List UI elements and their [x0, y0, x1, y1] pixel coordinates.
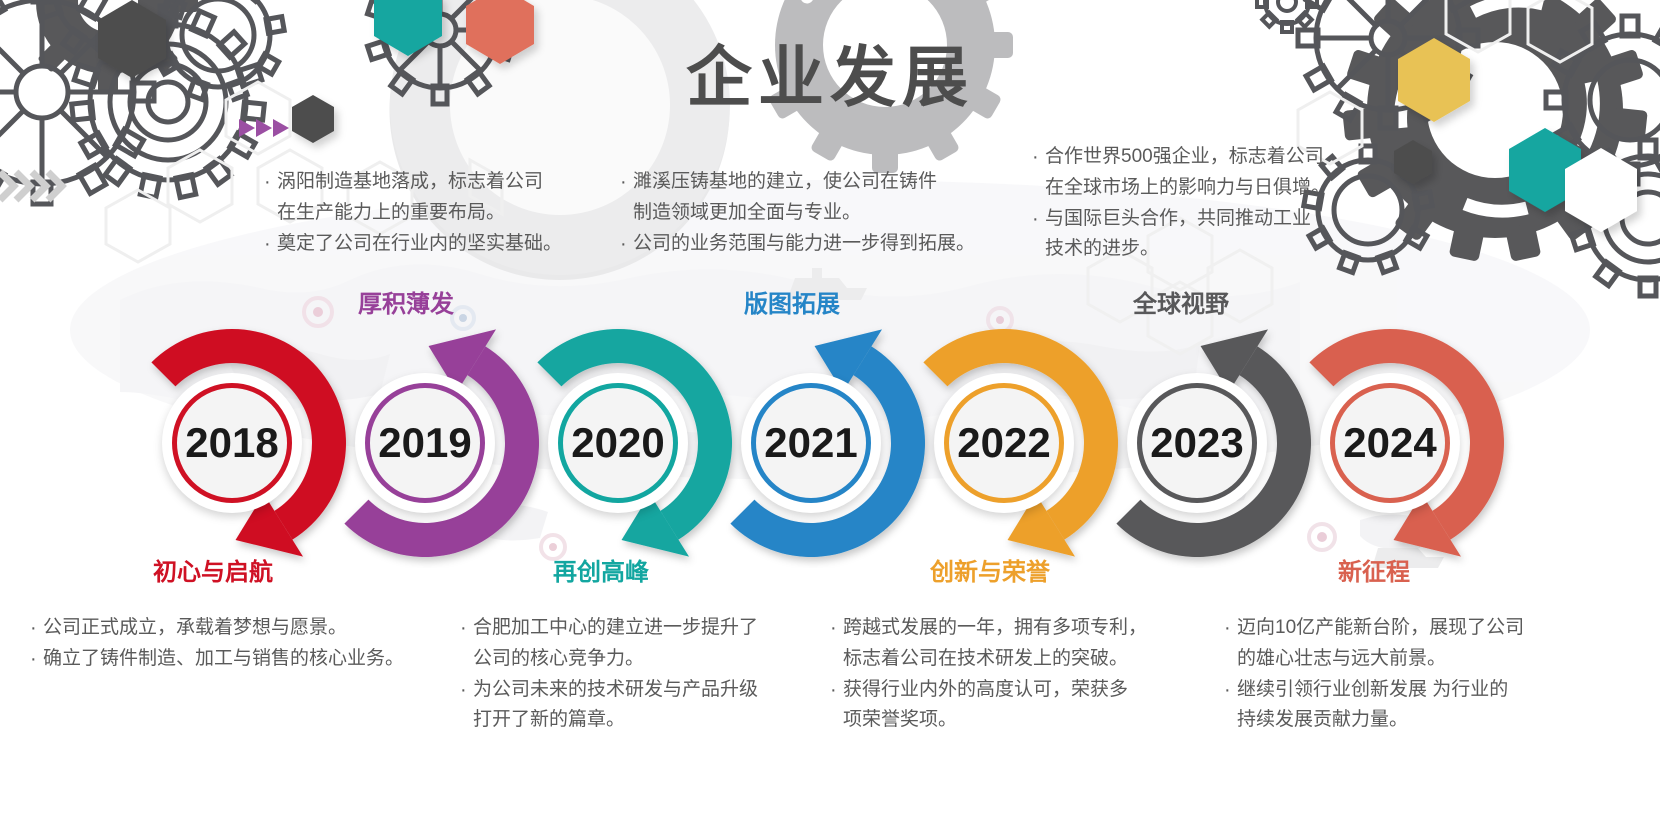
bullet: 涡阳制造基地落成，标志着公司 在生产能力上的重要布局。: [262, 167, 562, 229]
milestone-text-2022: 跨越式发展的一年，拥有多项专利， 标志着公司在技术研发上的突破。 获得行业内外的…: [828, 613, 1178, 736]
year-disc-2022[interactable]: 2022: [934, 373, 1074, 513]
milestone-label-2019: 厚积薄发: [358, 284, 454, 319]
milestone-text-2021: 濉溪压铸基地的建立，使公司在铸件 制造领域更加全面与专业。 公司的业务范围与能力…: [618, 167, 988, 259]
bullet: 公司的业务范围与能力进一步得到拓展。: [618, 229, 988, 260]
slide-canvas: 企业发展 涡阳制造基地落成，标志着公司 在生产能力上的重要布局。 奠定了公司在行…: [0, 0, 1660, 829]
bullet: 濉溪压铸基地的建立，使公司在铸件 制造领域更加全面与专业。: [618, 167, 988, 229]
chevron-right-icon-group: [239, 119, 289, 137]
bullet: 合肥加工中心的建立进一步提升了 公司的核心竞争力。: [458, 613, 788, 675]
year-disc-2024[interactable]: 2024: [1320, 373, 1460, 513]
year-disc-2019[interactable]: 2019: [355, 373, 495, 513]
bullet: 跨越式发展的一年，拥有多项专利， 标志着公司在技术研发上的突破。: [828, 613, 1178, 675]
year-label: 2018: [185, 422, 278, 464]
bullet: 奠定了公司在行业内的坚实基础。: [262, 229, 562, 260]
milestone-label-2020: 再创高峰: [553, 552, 649, 587]
bullet: 为公司未来的技术研发与产品升级 打开了新的篇章。: [458, 675, 788, 737]
milestone-text-2018: 公司正式成立，承载着梦想与愿景。 确立了铸件制造、加工与销售的核心业务。: [28, 613, 438, 675]
milestone-label-2018: 初心与启航: [153, 552, 273, 587]
milestone-text-2019: 涡阳制造基地落成，标志着公司 在生产能力上的重要布局。 奠定了公司在行业内的坚实…: [262, 167, 562, 259]
year-label: 2024: [1343, 422, 1436, 464]
year-label: 2022: [957, 422, 1050, 464]
year-disc-2021[interactable]: 2021: [741, 373, 881, 513]
year-disc-2018[interactable]: 2018: [162, 373, 302, 513]
milestone-label-2024: 新征程: [1338, 552, 1410, 587]
year-ring-2021: 2021: [751, 383, 871, 503]
milestone-label-2022: 创新与荣誉: [930, 552, 1050, 587]
timeline-node-2018[interactable]: 2018: [107, 318, 357, 568]
chevron-right-icon-group-gray: [0, 172, 62, 200]
year-label: 2020: [571, 422, 664, 464]
year-ring-2024: 2024: [1330, 383, 1450, 503]
year-label: 2023: [1150, 422, 1243, 464]
milestone-text-2023: 合作世界500强企业，标志着公司 在全球市场上的影响力与日俱增。 与国际巨头合作…: [1030, 142, 1350, 265]
milestone-label-2023: 全球视野: [1133, 284, 1229, 319]
page-title: 企业发展: [0, 24, 1660, 120]
bullet: 获得行业内外的高度认可，荣获多 项荣誉奖项。: [828, 675, 1178, 737]
milestone-text-2024: 迈向10亿产能新台阶，展现了公司 的雄心壮志与远大前景。 继续引领行业创新发展 …: [1222, 613, 1572, 736]
bullet: 迈向10亿产能新台阶，展现了公司 的雄心壮志与远大前景。: [1222, 613, 1572, 675]
year-disc-2020[interactable]: 2020: [548, 373, 688, 513]
timeline: 2018201920202021202220232024: [0, 318, 1660, 568]
bullet: 确立了铸件制造、加工与销售的核心业务。: [28, 644, 438, 675]
bullet: 继续引领行业创新发展 为行业的 持续发展贡献力量。: [1222, 675, 1572, 737]
year-ring-2019: 2019: [365, 383, 485, 503]
bullet: 公司正式成立，承载着梦想与愿景。: [28, 613, 438, 644]
bullet: 与国际巨头合作，共同推动工业 技术的进步。: [1030, 204, 1350, 266]
milestone-text-2020: 合肥加工中心的建立进一步提升了 公司的核心竞争力。 为公司未来的技术研发与产品升…: [458, 613, 788, 736]
bullet: 合作世界500强企业，标志着公司 在全球市场上的影响力与日俱增。: [1030, 142, 1350, 204]
year-ring-2020: 2020: [558, 383, 678, 503]
year-ring-2018: 2018: [172, 383, 292, 503]
milestone-label-2021: 版图拓展: [744, 284, 840, 319]
year-ring-2023: 2023: [1137, 383, 1257, 503]
year-label: 2021: [764, 422, 857, 464]
year-label: 2019: [378, 422, 471, 464]
year-ring-2022: 2022: [944, 383, 1064, 503]
year-disc-2023[interactable]: 2023: [1127, 373, 1267, 513]
